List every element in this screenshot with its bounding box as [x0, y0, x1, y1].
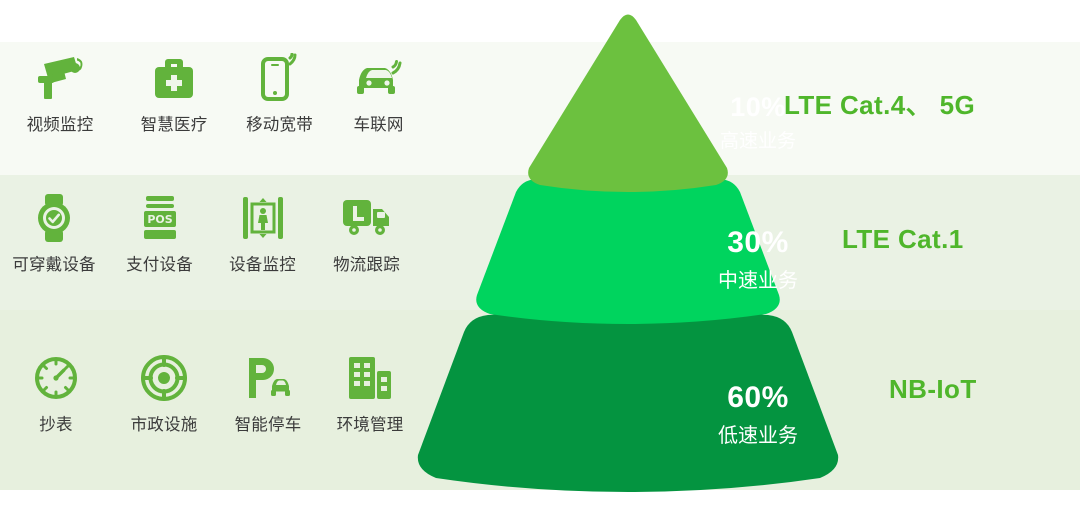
icon-label: 可穿戴设备 — [12, 251, 96, 275]
tech-label-high-speed: LTE Cat.4、 5G — [784, 85, 975, 122]
icon-label: 视频监控 — [27, 111, 94, 135]
icon-item-payment-device[interactable]: POS 支付设备 — [108, 192, 211, 275]
svg-text:POS: POS — [147, 213, 172, 226]
icon-item-video-surveillance[interactable]: 视频监控 — [0, 52, 120, 135]
municipal-facility-icon — [139, 352, 189, 404]
icon-row-medium-speed: 可穿戴设备 POS 支付设备 — [0, 192, 430, 275]
iot-speed-pyramid: 10% 高速业务 30% 中速业务 60% 低速业务 — [380, 0, 880, 500]
icon-label: 市政设施 — [131, 411, 198, 435]
icon-item-smart-healthcare[interactable]: 智慧医疗 — [120, 52, 228, 135]
smartwatch-icon — [31, 192, 77, 244]
icon-item-smart-parking[interactable]: 智能停车 — [216, 352, 320, 435]
smart-parking-icon — [243, 352, 293, 404]
tier-text-low-speed: 60% 低速业务 — [608, 383, 908, 445]
elevator-monitor-icon — [240, 192, 286, 244]
icon-label: 抄表 — [39, 411, 72, 435]
tier-name: 中速业务 — [608, 270, 908, 290]
icon-item-municipal-facility[interactable]: 市政设施 — [112, 352, 216, 435]
iot-pyramid-infographic: 视频监控 智慧医疗 — [0, 0, 1080, 518]
tier-name: 高速业务 — [608, 132, 908, 151]
tech-label-low-speed: NB-IoT — [889, 374, 977, 405]
icon-item-meter-reading[interactable]: 抄表 — [0, 352, 112, 435]
medical-kit-icon — [150, 52, 198, 104]
icon-label: 移动宽带 — [246, 111, 313, 135]
tier-name: 低速业务 — [608, 425, 908, 445]
icon-item-wearable-device[interactable]: 可穿戴设备 — [0, 192, 108, 275]
icon-label: 支付设备 — [126, 251, 193, 275]
icon-row-high-speed: 视频监控 智慧医疗 — [0, 52, 430, 135]
icon-label: 智能停车 — [235, 411, 302, 435]
icon-label: 设备监控 — [229, 251, 296, 275]
icon-label: 智慧医疗 — [141, 111, 208, 135]
icon-item-device-monitoring[interactable]: 设备监控 — [211, 192, 314, 275]
tech-label-medium-speed: LTE Cat.1 — [842, 224, 964, 255]
meter-reading-icon — [32, 352, 80, 404]
icon-row-low-speed: 抄表 市政设施 — [0, 352, 430, 435]
cctv-camera-icon — [34, 52, 86, 104]
pos-terminal-icon: POS — [138, 192, 182, 244]
icon-item-mobile-broadband[interactable]: 移动宽带 — [228, 52, 331, 135]
mobile-broadband-icon — [257, 52, 303, 104]
tier-percent: 60% — [608, 383, 908, 413]
